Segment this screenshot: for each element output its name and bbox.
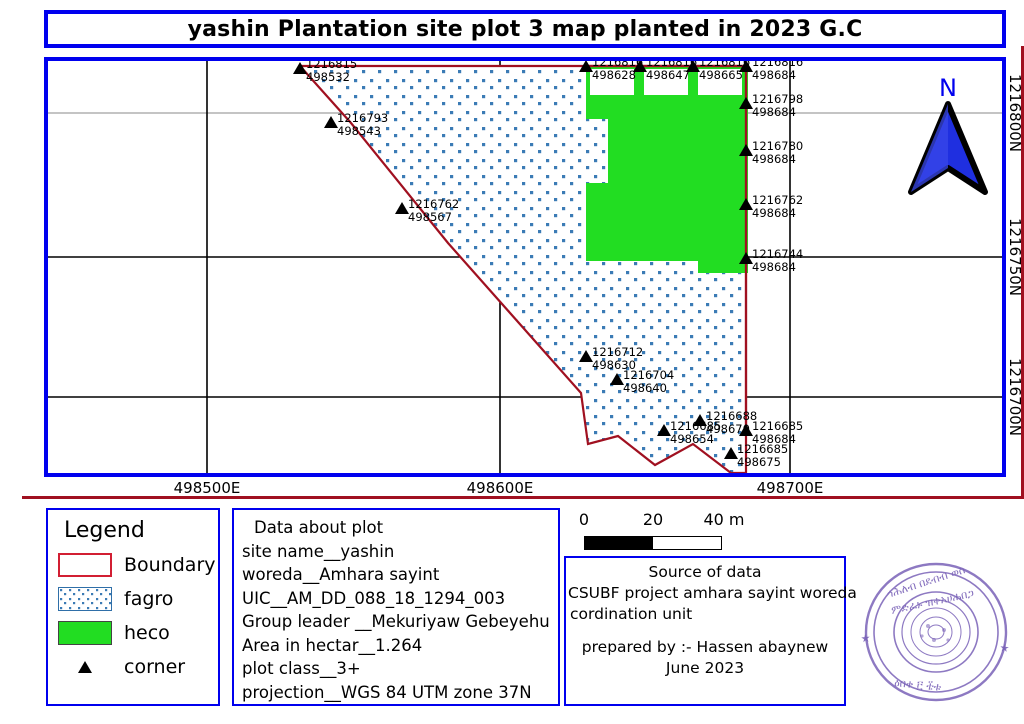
legend-item-label: fagro bbox=[124, 588, 173, 610]
corner-marker bbox=[579, 350, 593, 362]
corner-triangle-icon bbox=[58, 660, 112, 674]
corner-marker bbox=[739, 424, 753, 436]
heco-left-step2 bbox=[586, 119, 608, 183]
corner-easting: 498684 bbox=[752, 153, 803, 166]
legend-panel: Legend Boundary fagro heco corn bbox=[46, 508, 220, 706]
source-heading: Source of data bbox=[568, 562, 842, 583]
fagro-swatch-icon bbox=[58, 587, 112, 611]
corner-coordinate-label: 1216816498628 bbox=[592, 61, 643, 82]
scale-bar: 02040 m bbox=[572, 510, 842, 556]
corner-coordinate-label: 1216798498684 bbox=[752, 93, 803, 119]
corner-marker bbox=[579, 61, 593, 72]
map-title-box: yashin Plantation site plot 3 map plante… bbox=[44, 10, 1006, 48]
corner-coordinate-label: 1216685498684 bbox=[752, 420, 803, 446]
corner-coordinate-label: 1216793498543 bbox=[337, 112, 388, 138]
page-title: yashin Plantation site plot 3 map plante… bbox=[188, 17, 863, 42]
plot-data-line: UIC__AM_DD_088_18_1294_003 bbox=[242, 587, 552, 611]
corner-marker bbox=[657, 424, 671, 436]
legend-item-boundary: Boundary bbox=[58, 549, 208, 581]
corner-marker bbox=[724, 447, 738, 459]
easting-tick-label: 498700E bbox=[757, 479, 824, 497]
plot-data-panel: Data about plot site name__yashin woreda… bbox=[232, 508, 560, 706]
easting-tick-label: 498600E bbox=[467, 479, 534, 497]
scale-tick-label: 0 bbox=[579, 510, 589, 529]
svg-text:★: ★ bbox=[858, 632, 873, 644]
plot-data-line: Group leader __Mekuriyaw Gebeyehu bbox=[242, 610, 552, 634]
corner-easting: 498567 bbox=[408, 211, 459, 224]
plot-data-line: site name__yashin bbox=[242, 540, 552, 564]
scale-tick-label: 40 m bbox=[703, 510, 744, 529]
legend-item-fagro: fagro bbox=[58, 583, 208, 615]
heco-region bbox=[586, 69, 748, 273]
prepared-date: June 2023 bbox=[568, 658, 842, 679]
corner-easting: 498684 bbox=[752, 106, 803, 119]
plot-data-heading: Data about plot bbox=[242, 516, 552, 540]
corner-marker bbox=[739, 97, 753, 109]
legend-item-corner: corner bbox=[58, 651, 208, 683]
svg-text:★: ★ bbox=[997, 642, 1012, 654]
map-canvas[interactable]: 1216815498532121679349854312167624985671… bbox=[48, 61, 1002, 473]
plot-data-line: plot class__3+ bbox=[242, 657, 552, 681]
corner-marker bbox=[293, 62, 307, 74]
corner-marker bbox=[395, 202, 409, 214]
source-line-1: CSUBF project amhara sayint woreda bbox=[568, 583, 842, 604]
corner-easting: 498665 bbox=[699, 69, 750, 82]
corner-coordinate-label: 1216816498647 bbox=[646, 61, 697, 82]
corner-coordinate-label: 1216762498567 bbox=[408, 198, 459, 224]
corner-coordinate-label: 1216816498684 bbox=[752, 61, 803, 82]
corner-easting: 498543 bbox=[337, 125, 388, 138]
heco-swatch-icon bbox=[58, 621, 112, 645]
map-graphic bbox=[48, 61, 1002, 473]
north-arrow-label: N bbox=[903, 76, 993, 100]
scale-segment-dark bbox=[585, 537, 653, 549]
corner-easting: 498647 bbox=[646, 69, 697, 82]
corner-coordinate-label: 1216744498684 bbox=[752, 248, 803, 274]
corner-easting: 498675 bbox=[737, 456, 788, 469]
north-arrow-icon bbox=[903, 100, 993, 195]
corner-easting: 498684 bbox=[752, 207, 803, 220]
corner-coordinate-label: 1216704498640 bbox=[623, 369, 674, 395]
source-line-2: cordination unit bbox=[568, 604, 842, 625]
map-page: yashin Plantation site plot 3 map plante… bbox=[0, 0, 1024, 724]
corner-marker bbox=[739, 252, 753, 264]
legend-item-label: corner bbox=[124, 656, 185, 678]
prepared-by: prepared by :- Hassen abaynew bbox=[568, 637, 842, 658]
corner-marker bbox=[610, 373, 624, 385]
source-panel: Source of data CSUBF project amhara sayi… bbox=[564, 556, 846, 706]
corner-coordinate-label: 1216815498532 bbox=[306, 61, 357, 84]
corner-easting: 498532 bbox=[306, 71, 357, 84]
corner-marker bbox=[693, 414, 707, 426]
scale-segment-light bbox=[653, 537, 721, 549]
corner-marker bbox=[739, 198, 753, 210]
plot-data-line: projection__WGS 84 UTM zone 37N bbox=[242, 681, 552, 705]
scale-tick-label: 20 bbox=[643, 510, 663, 529]
source-spacer bbox=[568, 625, 842, 637]
bottom-rule bbox=[22, 496, 1024, 499]
legend-item-label: heco bbox=[124, 622, 170, 644]
corner-marker bbox=[739, 144, 753, 156]
legend-title: Legend bbox=[64, 518, 208, 543]
scale-bar-graphic bbox=[584, 536, 722, 550]
map-frame[interactable]: 1216815498532121679349854312167624985671… bbox=[44, 57, 1006, 477]
legend-item-heco: heco bbox=[58, 617, 208, 649]
north-arrow: N bbox=[903, 76, 993, 201]
corner-easting: 498684 bbox=[752, 261, 803, 274]
corner-easting: 498640 bbox=[623, 382, 674, 395]
corner-easting: 498684 bbox=[752, 69, 803, 82]
boundary-swatch-icon bbox=[58, 553, 112, 577]
scale-bar-labels: 02040 m bbox=[572, 510, 842, 532]
corner-coordinate-label: 1216762498684 bbox=[752, 194, 803, 220]
plot-data-line: Area in hectar__1.264 bbox=[242, 634, 552, 658]
corner-easting: 498684 bbox=[752, 433, 803, 446]
corner-coordinate-label: 1216780498684 bbox=[752, 140, 803, 166]
official-stamp: ኅሕለብ በደብብ ወስ ምድፈኑ ዝቀአሀሐበጋ ዕበቀ ፫ ቴ፟ቱ ★ ★ bbox=[858, 558, 1014, 708]
legend-item-label: Boundary bbox=[124, 554, 216, 576]
easting-tick-label: 498500E bbox=[174, 479, 241, 497]
corner-marker bbox=[324, 116, 338, 128]
corner-coordinate-label: 1216816498665 bbox=[699, 61, 750, 82]
plot-data-line: woreda__Amhara sayint bbox=[242, 563, 552, 587]
corner-coordinate-label: 1216685498675 bbox=[737, 443, 788, 469]
corner-easting: 498628 bbox=[592, 69, 643, 82]
stamp-seal-icon: ኅሕለብ በደብብ ወስ ምድፈኑ ዝቀአሀሐበጋ ዕበቀ ፫ ቴ፟ቱ ★ ★ bbox=[858, 558, 1014, 708]
